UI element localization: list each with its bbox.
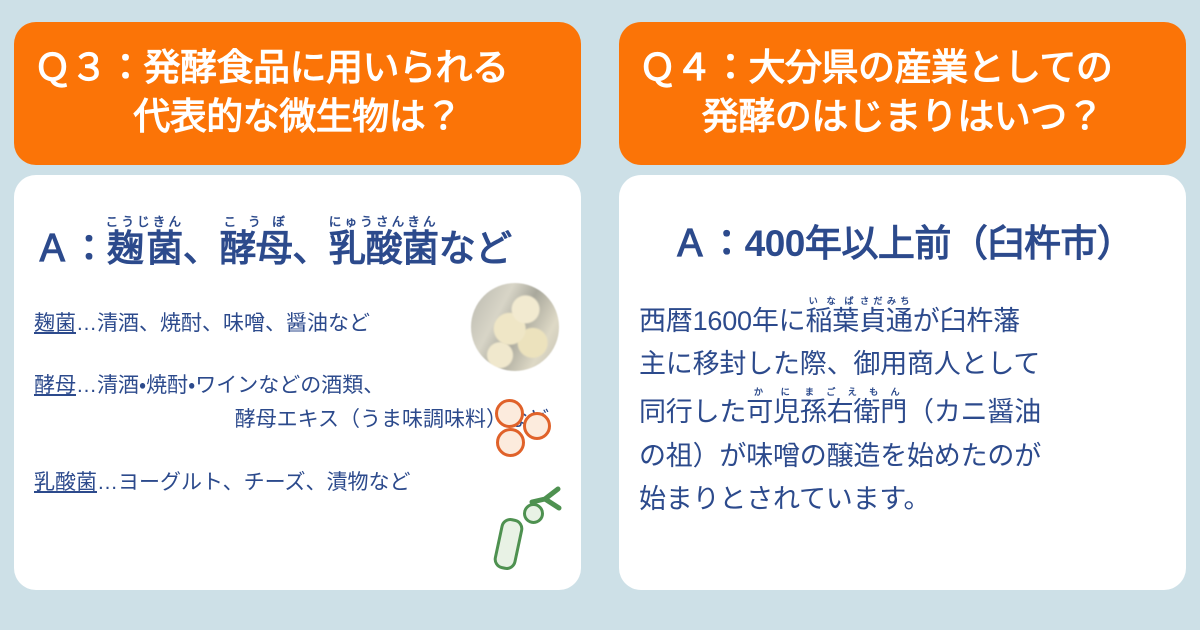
answer-heading-q4: Ａ：400年以上前（臼杵市） xyxy=(639,223,1166,266)
yeast-cell-2 xyxy=(523,412,551,440)
answer-paragraph-q4: 西暦1600年に稲葉いなば貞通さだみちが臼杵藩 主に移封した際、御用商人として … xyxy=(639,296,1166,523)
bullet-term-koujikin: 麹菌 xyxy=(34,312,76,335)
paragraph-line-3-post: （カニ醤油 xyxy=(907,397,1041,427)
ruby-koujikin: 麹菌こうじきん xyxy=(107,228,183,269)
bullet-text-nyuusankin: …ヨーグルト、チーズ、漬物など xyxy=(97,471,411,494)
ruby-text-inaba: いなば xyxy=(805,296,859,306)
ruby-text-nyuusankin: にゅうさんきん xyxy=(329,215,439,229)
ruby-magoemon: 孫右衛門まごえもん xyxy=(800,397,907,427)
ruby-base-nyuusankin: 乳酸菌 xyxy=(329,228,439,269)
ruby-text-kani: かに xyxy=(746,387,800,397)
ruby-text-magoemon: まごえもん xyxy=(800,387,907,397)
paragraph-line-1-post: が臼杵藩 xyxy=(913,306,1020,336)
bullet-text-koubo-cont: 酵母エキス（うま味調味料）など xyxy=(34,405,561,435)
ruby-base-magoemon: 孫右衛門 xyxy=(800,397,907,427)
ruby-base-sadamichi: 貞通 xyxy=(859,306,913,336)
koji-photo-icon xyxy=(471,283,559,371)
lactic-acid-bacteria-icon xyxy=(483,484,567,576)
paragraph-line-3: 同行した可児かに孫右衛門まごえもん（カニ醤油 xyxy=(639,387,1166,435)
question-line-2: 代表的な微生物は？ xyxy=(30,93,565,141)
paragraph-line-5: 始まりとされています。 xyxy=(639,478,1166,522)
question-line-2: 発酵のはじまりはいつ？ xyxy=(635,93,1170,141)
answer-heading-q3: Ａ：麹菌こうじきん、酵母こうぼ、乳酸菌にゅうさんきんなど xyxy=(34,215,561,271)
ruby-base-koubo: 酵母 xyxy=(219,228,292,269)
paragraph-line-3-pre: 同行した xyxy=(639,397,746,427)
bullet-text-koujikin: …清酒、焼酎、味噌、醤油など xyxy=(76,312,370,335)
bacteria-rod-shape xyxy=(492,516,525,572)
yeast-cells-icon xyxy=(485,397,563,461)
answer-prefix: Ａ： xyxy=(34,228,107,269)
qa-card-q4: Ｑ４：大分県の産業としての 発酵のはじまりはいつ？ Ａ：400年以上前（臼杵市）… xyxy=(619,22,1186,590)
answer-card-q4: Ａ：400年以上前（臼杵市） 西暦1600年に稲葉いなば貞通さだみちが臼杵藩 主… xyxy=(619,175,1186,590)
answer-card-q3: Ａ：麹菌こうじきん、酵母こうぼ、乳酸菌にゅうさんきんなど 麹菌…清酒、焼酎、味噌… xyxy=(14,175,581,590)
qa-board: Ｑ３：発酵食品に用いられる 代表的な微生物は？ Ａ：麹菌こうじきん、酵母こうぼ、… xyxy=(0,0,1200,630)
bullet-term-nyuusankin: 乳酸菌 xyxy=(34,471,97,494)
bacteria-branched-shape xyxy=(529,486,563,516)
ruby-text-koujikin: こうじきん xyxy=(106,215,185,229)
ruby-sadamichi: 貞通さだみち xyxy=(859,306,913,336)
bullet-text-koubo: …清酒・焼酎・ワインなどの酒類、 xyxy=(76,374,384,397)
ruby-nyuusankin: 乳酸菌にゅうさんきん xyxy=(329,228,439,269)
ruby-base-kani: 可児 xyxy=(746,397,800,427)
paragraph-line-4: の祖）が味噌の醸造を始めたのが xyxy=(639,435,1166,479)
question-line-1: Ｑ４：大分県の産業としての xyxy=(635,44,1170,92)
yeast-cell-3 xyxy=(496,428,525,457)
answer-separator-2: 、 xyxy=(292,228,329,269)
answer-separator-1: 、 xyxy=(183,228,220,269)
ruby-text-koubo: こうぼ xyxy=(219,215,292,229)
question-header-q4: Ｑ４：大分県の産業としての 発酵のはじまりはいつ？ xyxy=(619,22,1186,165)
bullet-term-koubo: 酵母 xyxy=(34,374,76,397)
ruby-base-koujikin: 麹菌 xyxy=(106,228,185,269)
qa-card-q3: Ｑ３：発酵食品に用いられる 代表的な微生物は？ Ａ：麹菌こうじきん、酵母こうぼ、… xyxy=(14,22,581,590)
ruby-text-sadamichi: さだみち xyxy=(859,296,913,306)
yeast-cell-1 xyxy=(495,399,524,428)
question-line-1: Ｑ３：発酵食品に用いられる xyxy=(30,44,565,92)
paragraph-line-2: 主に移封した際、御用商人として xyxy=(639,343,1166,387)
bullet-item-koubo: 酵母…清酒・焼酎・ワインなどの酒類、 酵母エキス（うま味調味料）など xyxy=(34,371,561,436)
ruby-base-inaba: 稲葉 xyxy=(805,306,859,336)
bullet-item-nyuusankin: 乳酸菌…ヨーグルト、チーズ、漬物など xyxy=(34,468,561,498)
answer-suffix: など xyxy=(439,228,512,269)
ruby-inaba: 稲葉いなば xyxy=(805,306,859,336)
ruby-koubo: 酵母こうぼ xyxy=(219,228,292,269)
paragraph-line-1-pre: 西暦1600年に xyxy=(639,306,805,336)
ruby-kani: 可児かに xyxy=(746,397,800,427)
paragraph-line-1: 西暦1600年に稲葉いなば貞通さだみちが臼杵藩 xyxy=(639,296,1166,344)
question-header-q3: Ｑ３：発酵食品に用いられる 代表的な微生物は？ xyxy=(14,22,581,165)
